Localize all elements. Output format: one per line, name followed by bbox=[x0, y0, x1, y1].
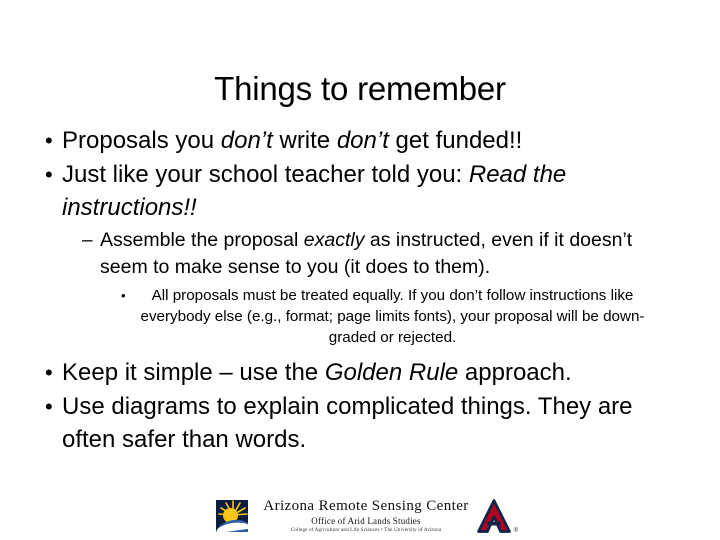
emphasis-text: don’t bbox=[221, 127, 273, 154]
emphasis-text: don’t bbox=[337, 127, 389, 154]
logo-organization-name: Arizona Remote Sensing Center bbox=[256, 499, 476, 514]
logo-text-block: Arizona Remote Sensing Center Office of … bbox=[248, 499, 476, 533]
plain-text: Proposals you bbox=[62, 127, 221, 154]
registered-trademark-mark: ® bbox=[514, 528, 518, 534]
bullet-text: Proposals you don’t write don’t get fund… bbox=[62, 124, 676, 157]
bullet-list: •Proposals you don’t write don’t get fun… bbox=[0, 124, 720, 457]
bullet-text: Keep it simple – use the Golden Rule app… bbox=[62, 356, 676, 389]
plain-text: All proposals must be treated equally. I… bbox=[141, 287, 645, 346]
bullet-item-level-3: •All proposals must be treated equally. … bbox=[0, 285, 720, 348]
plain-text: Assemble the proposal bbox=[100, 229, 304, 251]
plain-text: write bbox=[273, 127, 337, 154]
emphasis-text: Golden Rule bbox=[325, 359, 458, 386]
bullet-item-level-1: •Proposals you don’t write don’t get fun… bbox=[0, 124, 720, 157]
logo-division-name: Office of Arid Lands Studies bbox=[256, 517, 476, 526]
bullet-text: All proposals must be treated equally. I… bbox=[133, 285, 652, 348]
bullet-item-level-1: •Keep it simple – use the Golden Rule ap… bbox=[0, 356, 720, 389]
bullet-marker-icon: – bbox=[82, 227, 100, 254]
plain-text: Just like your school teacher told you: bbox=[62, 161, 469, 188]
bullet-item-level-2: –Assemble the proposal exactly as instru… bbox=[0, 227, 720, 281]
plain-text: approach. bbox=[458, 359, 571, 386]
bullet-marker-icon: • bbox=[45, 356, 62, 389]
page-title: Things to remember bbox=[40, 70, 680, 108]
plain-text: Use diagrams to explain complicated thin… bbox=[62, 393, 633, 453]
sun-emblem-icon bbox=[216, 500, 248, 532]
plain-text: Keep it simple – use the bbox=[62, 359, 325, 386]
bullet-marker-icon: • bbox=[45, 390, 62, 423]
bullet-marker-icon: • bbox=[45, 158, 62, 191]
logo-affiliation-line: College of Agriculture and Life Sciences… bbox=[256, 528, 476, 533]
bullet-item-level-1: •Use diagrams to explain complicated thi… bbox=[0, 390, 720, 456]
bullet-item-level-1: •Just like your school teacher told you:… bbox=[0, 158, 720, 224]
bullet-text: Use diagrams to explain complicated thin… bbox=[62, 390, 676, 456]
arizona-remote-sensing-center-logo: Arizona Remote Sensing Center Office of … bbox=[216, 496, 512, 536]
emphasis-text: exactly bbox=[304, 229, 365, 251]
slide: Things to remember •Proposals you don’t … bbox=[0, 0, 720, 540]
bullet-text: Just like your school teacher told you: … bbox=[62, 158, 676, 224]
bullet-text: Assemble the proposal exactly as instruc… bbox=[100, 227, 674, 281]
plain-text: get funded!! bbox=[389, 127, 522, 154]
university-of-arizona-block-a-icon: ® bbox=[476, 498, 512, 534]
bullet-marker-icon: • bbox=[121, 285, 133, 306]
bullet-marker-icon: • bbox=[45, 124, 62, 157]
